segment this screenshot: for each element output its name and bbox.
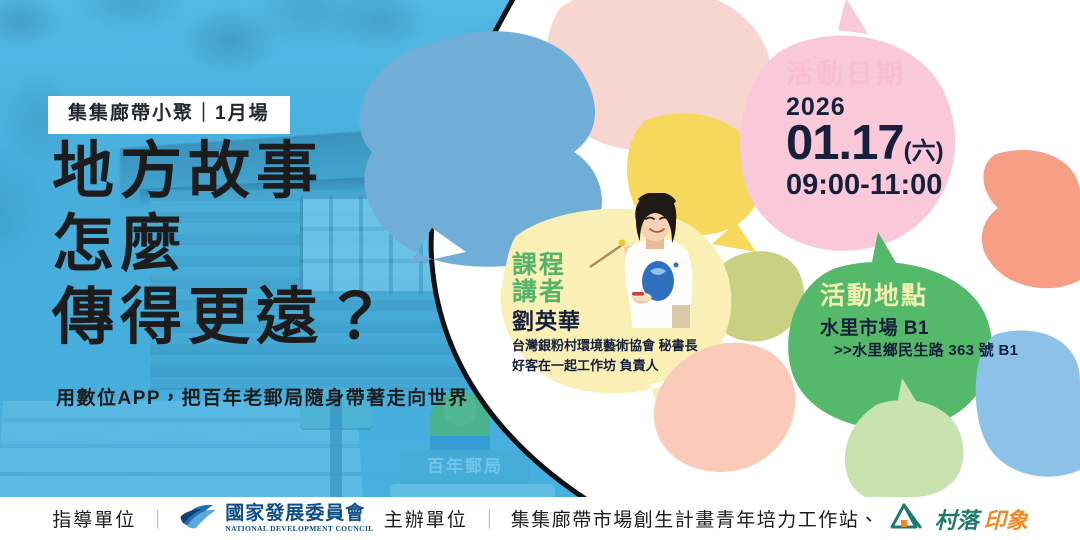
event-location-block: 活動地點 水里市場 B1 >>水里鄉民生路 363 號 B1 (820, 283, 1045, 361)
location-venue: 水里市場 B1 (820, 317, 1045, 342)
village-impression-logo: 村落 印象 (890, 503, 1028, 535)
page-title: 地方故事 怎麼 傳得更遠？ (52, 140, 392, 350)
event-banner: 百年郵局 (0, 0, 1080, 540)
footer-separator-2: ｜ (480, 505, 499, 532)
ndc-name-en: NATIONAL DEVELOPMENT COUNCIL (225, 525, 373, 533)
speaker-kicker-line-1: 課程 (512, 252, 722, 279)
date-time: 09:00-11:00 (786, 170, 1016, 202)
location-kicker: 活動地點 (820, 283, 1045, 311)
headline-line-3: 傳得更遠？ (52, 286, 392, 349)
footer-bar: 指導單位 ｜ 國家發展委員會 NATIONAL DEVELOPMENT COUN… (0, 497, 1080, 540)
footer-organizer-label: 主辦單位 (384, 505, 468, 532)
event-series-badge: 集集廊帶小聚｜1月場 (48, 96, 290, 134)
footer-organizer-text: 集集廊帶市場創生計畫青年培力工作站、 (511, 505, 880, 532)
speaker-kicker-line-2: 講者 (512, 279, 722, 306)
location-address: >>水里鄉民生路 363 號 B1 (834, 341, 1045, 361)
event-date-block: 活動日期 2026 01.17(六) 09:00-11:00 (786, 60, 1016, 202)
speaker-credential-2: 好客在一起工作坊 負責人 (512, 357, 722, 374)
footer-guidance-label: 指導單位 (52, 505, 136, 532)
date-weekday: (六) (904, 138, 944, 165)
ndc-mark-icon (179, 502, 219, 535)
headline-line-2: 怎麼 (52, 213, 392, 276)
speaker-block: 課程 講者 劉英華 台灣銀粉村環境藝術協會 秘書長 好客在一起工作坊 負責人 (512, 252, 722, 374)
ndc-text: 國家發展委員會 NATIONAL DEVELOPMENT COUNCIL (225, 504, 373, 533)
village-logo-or: 印象 (984, 503, 1028, 535)
mountain-person-icon (890, 503, 930, 534)
speaker-credential-1: 台灣銀粉村環境藝術協會 秘書長 (512, 337, 722, 354)
date-day-value: 01.17 (786, 116, 904, 170)
headline-subtitle: 用數位APP，把百年老郵局隨身帶著走向世界 (56, 383, 469, 410)
footer-separator-1: ｜ (148, 505, 167, 532)
speaker-name: 劉英華 (512, 309, 722, 335)
ndc-name-cn: 國家發展委員會 (225, 504, 373, 523)
village-logo-cn: 村落 (935, 503, 979, 535)
ndc-logo: 國家發展委員會 NATIONAL DEVELOPMENT COUNCIL (179, 502, 373, 535)
date-kicker: 活動日期 (786, 60, 1016, 90)
headline-line-1: 地方故事 (52, 140, 392, 203)
date-day: 01.17(六) (786, 119, 1016, 169)
